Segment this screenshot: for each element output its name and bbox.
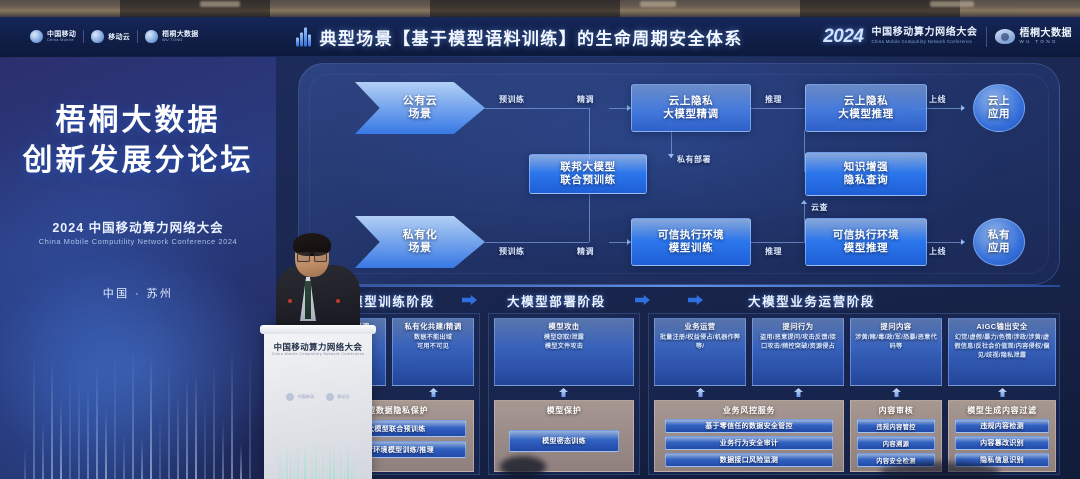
cloud-icon	[91, 30, 104, 43]
solution-title: 内容审核	[851, 401, 941, 416]
connector	[751, 108, 805, 109]
risk-body: 涉黄/赌/毒/政/军/恐暴/恶意代码等	[853, 334, 939, 352]
cloud-icon	[326, 393, 334, 401]
edge-label-infer-top: 推理	[765, 94, 782, 105]
header-divider	[986, 27, 987, 47]
stage-arrow-icon	[462, 295, 477, 305]
edge-label-pretrain-bottom: 预训练	[499, 246, 525, 257]
node-label-line2: 场景	[408, 242, 431, 255]
mobile-cloud-label: 移动云	[108, 32, 130, 42]
node-label-line1: 联邦大模型	[560, 161, 616, 174]
flow-node-federated-pretrain[interactable]: 联邦大模型 联合预训练	[529, 154, 647, 194]
china-mobile-icon	[30, 30, 43, 43]
flow-node-public-cloud-scene[interactable]: 公有云 场景	[355, 82, 485, 134]
lifecycle-flow-diagram: 公有云 场景 私有化 场景 联邦大模型 联合预训练 云上隐私 大模型精调 云上隐…	[298, 63, 1060, 285]
connector	[485, 242, 589, 243]
risk-body: 数据不能出域可用不可见	[395, 334, 471, 352]
node-label-line1: 知识增强	[844, 161, 888, 174]
speaker-at-podium: 中国移动算力网络大会 China Mobile Computility Netw…	[252, 225, 380, 479]
poster-title-line1: 梧桐大数据	[0, 101, 276, 141]
connector	[751, 242, 805, 243]
node-label-line2: 应用	[988, 108, 1010, 121]
stage-panels: 云上训练/精调 数据上云泄露隐私风险 私有化共建/精调 数据不能出域可用不可见 …	[298, 313, 1060, 475]
mobile-cloud-logo: 移动云	[91, 30, 130, 43]
flow-node-knowledge-privacy-query[interactable]: 知识增强 隐私查询	[805, 152, 927, 196]
header-right-group: 2024 中国移动算力网络大会 China Mobile Computility…	[823, 26, 1072, 48]
node-label-line1: 可信执行环境	[833, 229, 900, 242]
risk-card-private-cobuild[interactable]: 私有化共建/精调 数据不能出域可用不可见	[392, 318, 474, 386]
up-arrow-icon	[559, 388, 568, 397]
connector	[485, 108, 589, 109]
podium-logo-row: 中国移动 移动云	[264, 393, 372, 401]
node-label-line1: 云上隐私	[669, 95, 713, 108]
solution-item[interactable]: 违规内容检测	[955, 419, 1049, 433]
wutong-cloud-icon	[145, 30, 158, 43]
header-title-group: 典型场景【基于模型语料训练】的生命周期安全体系	[296, 24, 743, 49]
wutong-brand: 梧桐大数据 WU TONG	[995, 29, 1073, 45]
node-label-line2: 应用	[988, 242, 1010, 255]
flow-node-cloud-privacy-infer[interactable]: 云上隐私 大模型推理	[805, 84, 927, 132]
risk-card-aigc-output-safety[interactable]: AIGC输出安全 幻觉/虚假/暴力/色情/涉政/涉黄/虚假信息/反社会价值观/内…	[948, 318, 1056, 386]
risk-body: 模型窃取/泄露模型文件攻击	[497, 334, 631, 352]
risk-body: 批量注册/权益侵占/机器作弊等/	[657, 334, 743, 352]
solution-title: 模型生成内容过滤	[949, 401, 1055, 416]
bar-chart-icon	[296, 27, 311, 46]
node-label-line1: 私有化	[403, 229, 438, 242]
node-label-line2: 模型训练	[669, 242, 713, 255]
flow-node-tee-infer[interactable]: 可信执行环境 模型推理	[805, 218, 927, 266]
arrow-head	[961, 105, 965, 111]
flow-node-cloud-app[interactable]: 云上 应用	[973, 84, 1025, 132]
stage-arrow-icon	[688, 295, 703, 305]
wutong-label-en: WU TONG	[162, 39, 199, 43]
podium-logo-label: 中国移动	[297, 394, 314, 400]
stage-arrow-icon	[635, 295, 650, 305]
operation-panel: 业务运营 批量注册/权益侵占/机器作弊等/ 提问行为 盗用/恶意提问/攻击反馈/…	[648, 313, 1060, 475]
solution-item[interactable]: 基于零信任的数据安全管控	[665, 419, 833, 433]
podium-logo-mobile-cloud: 移动云	[326, 393, 350, 401]
edge-label-finetune-bottom: 精调	[577, 246, 594, 257]
solution-block-business-riskcontrol: 业务风控服务 基于零信任的数据安全管控 业务行为安全审计 数据接口风险监测	[654, 400, 844, 472]
up-arrow-icon	[998, 388, 1007, 397]
risk-card-question-behavior[interactable]: 提问行为 盗用/恶意提问/攻击反馈/接口攻击/频控突破/资源侵占	[752, 318, 844, 386]
risk-title: 提问内容	[853, 322, 939, 331]
deployment-panel: 模型攻击 模型窃取/泄露模型文件攻击 模型保护 模型密态训练	[488, 313, 640, 475]
edge-label-infer-bottom: 推理	[765, 246, 782, 257]
conference-name-en: China Mobile Computility Network Confere…	[872, 40, 978, 44]
risk-body: 幻觉/虚假/暴力/色情/涉政/涉黄/虚假信息/反社会价值观/内容侵权/偏见/歧视…	[951, 334, 1053, 361]
speaker-glasses	[297, 252, 327, 259]
solution-item[interactable]: 模型密态训练	[509, 430, 619, 452]
solution-item[interactable]: 内容溯源	[857, 436, 935, 450]
connector	[589, 108, 590, 160]
podium-logo-label: 移动云	[337, 394, 350, 400]
risk-body: 盗用/恶意提问/攻击反馈/接口攻击/频控突破/资源侵占	[755, 334, 841, 352]
solution-item[interactable]: 业务行为安全审计	[665, 436, 833, 450]
lapel-pin	[336, 299, 340, 303]
conference-year: 2024	[823, 26, 863, 48]
node-label-line2: 场景	[408, 108, 431, 121]
china-mobile-icon	[286, 393, 294, 401]
node-label-line1: 云上	[988, 95, 1010, 108]
risk-title: 业务运营	[657, 322, 743, 331]
node-label-line2: 模型推理	[844, 242, 888, 255]
wutong-bird-icon	[995, 29, 1015, 44]
logo-divider	[137, 30, 138, 43]
node-label-line2: 联合预训练	[560, 174, 616, 187]
edge-label-pretrain-top: 预训练	[499, 94, 525, 105]
china-mobile-label-en: China Mobile	[47, 39, 76, 43]
node-label-line1: 可信执行环境	[658, 229, 725, 242]
risk-card-business-operation[interactable]: 业务运营 批量注册/权益侵占/机器作弊等/	[654, 318, 746, 386]
edge-label-cloud-query: 云查	[811, 202, 828, 213]
risk-card-model-attack[interactable]: 模型攻击 模型窃取/泄露模型文件攻击	[494, 318, 634, 386]
edge-label-online-bottom: 上线	[929, 246, 946, 257]
page-title: 典型场景【基于模型语料训练】的生命周期安全体系	[320, 24, 743, 49]
up-arrow-icon	[429, 388, 438, 397]
wutong-brand-cn: 梧桐大数据	[1020, 29, 1073, 39]
conference-name-cn: 中国移动算力网络大会	[872, 28, 978, 38]
up-arrow-icon	[892, 388, 901, 397]
node-label-line2: 隐私查询	[844, 174, 888, 187]
foreground-object	[500, 456, 546, 478]
arrow-head	[961, 239, 965, 245]
connector	[589, 190, 590, 242]
up-arrow-icon	[794, 388, 803, 397]
presentation-slide: 公有云 场景 私有化 场景 联邦大模型 联合预训练 云上隐私 大模型精调 云上隐…	[276, 57, 1080, 479]
foreground-object	[880, 462, 1000, 479]
node-label-line1: 云上隐私	[844, 95, 888, 108]
risk-title: AIGC输出安全	[951, 322, 1053, 331]
flow-node-tee-train[interactable]: 可信执行环境 模型训练	[631, 218, 751, 266]
poster-city: 中国 · 苏州	[0, 285, 276, 301]
header-logo-group: 中国移动 China Mobile 移动云 梧桐大数据 WU TONG	[30, 30, 199, 43]
poster-light-rays	[22, 325, 262, 479]
node-label-line2: 大模型精调	[663, 108, 719, 121]
flow-node-cloud-privacy-finetune[interactable]: 云上隐私 大模型精调	[631, 84, 751, 132]
arrow-head	[801, 200, 807, 204]
poster-subtitle-en: China Mobile Computility Network Confere…	[0, 237, 276, 246]
podium-title-en: China Mobile Computility Network Confere…	[264, 352, 372, 356]
podium: 中国移动算力网络大会 China Mobile Computility Netw…	[264, 329, 372, 479]
solution-item[interactable]: 数据接口风险监测	[665, 453, 833, 467]
screenshot-root: 中国移动 China Mobile 移动云 梧桐大数据 WU TONG	[0, 0, 1080, 479]
solution-block-generated-content-filter: 模型生成内容过滤 违规内容检测 内容篡改识别 隐私信息识别	[948, 400, 1056, 472]
wutong-logo: 梧桐大数据 WU TONG	[145, 30, 199, 43]
logo-divider	[83, 30, 84, 43]
wutong-brand-en: WU TONG	[1020, 40, 1073, 45]
podium-light-rays	[278, 437, 358, 479]
stage-header-strip: 大模型训练阶段 大模型部署阶段 大模型业务运营阶段	[298, 289, 1060, 311]
poster-subtitle-cn: 2024 中国移动算力网络大会	[0, 217, 276, 236]
edge-label-finetune-top: 精调	[577, 94, 594, 105]
solution-item[interactable]: 违规内容管控	[857, 419, 935, 433]
left-poster: 梧桐大数据 创新发展分论坛 2024 中国移动算力网络大会 China Mobi…	[0, 57, 276, 479]
china-mobile-label: 中国移动	[47, 31, 76, 38]
ceiling	[0, 0, 1080, 17]
edge-label-private-deploy: 私有部署	[677, 154, 711, 165]
podium-top-edge	[260, 325, 376, 334]
header-banner: 中国移动 China Mobile 移动云 梧桐大数据 WU TONG	[0, 17, 1080, 57]
arrow-head	[668, 154, 674, 158]
solution-title: 模型保护	[495, 401, 633, 416]
podium-logo-china-mobile: 中国移动	[286, 393, 314, 401]
edge-label-online-top: 上线	[929, 94, 946, 105]
up-arrow-icon	[696, 388, 705, 397]
stage-title-deployment: 大模型部署阶段	[507, 291, 606, 310]
lapel-pin	[288, 299, 292, 303]
solution-item[interactable]: 内容篡改识别	[955, 436, 1049, 450]
node-label-line1: 公有云	[403, 95, 438, 108]
risk-title: 模型攻击	[497, 322, 631, 331]
wutong-label: 梧桐大数据	[162, 31, 199, 38]
speaker-tie	[305, 281, 311, 319]
stage-title-operation: 大模型业务运营阶段	[748, 291, 875, 310]
china-mobile-logo: 中国移动 China Mobile	[30, 30, 76, 43]
node-label-line1: 私有	[988, 229, 1010, 242]
node-label-line2: 大模型推理	[838, 108, 894, 121]
poster-title: 梧桐大数据 创新发展分论坛	[0, 101, 276, 181]
risk-title: 提问行为	[755, 322, 841, 331]
poster-title-line2: 创新发展分论坛	[0, 141, 276, 181]
risk-title: 私有化共建/精调	[395, 322, 471, 331]
risk-card-question-content[interactable]: 提问内容 涉黄/赌/毒/政/军/恐暴/恶意代码等	[850, 318, 942, 386]
flow-node-private-app[interactable]: 私有 应用	[973, 218, 1025, 266]
solution-title: 业务风控服务	[655, 401, 843, 416]
